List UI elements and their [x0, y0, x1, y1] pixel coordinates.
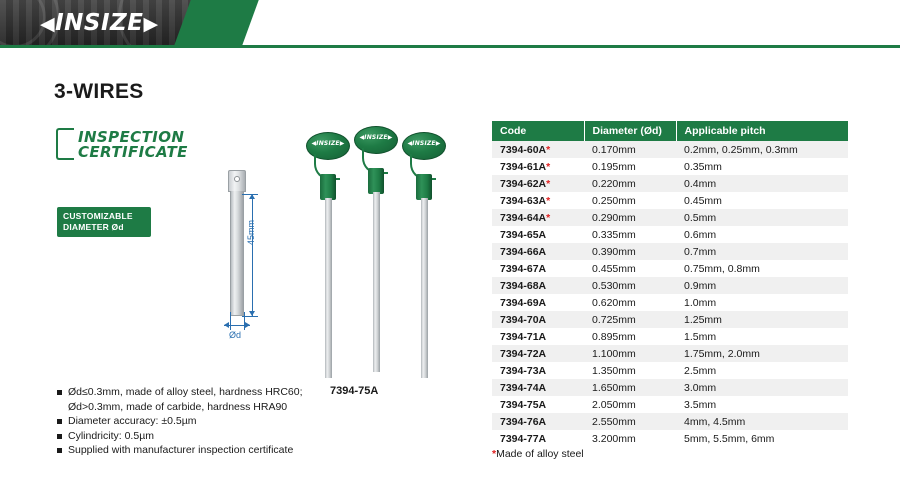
dimension-length-label: 45mm	[246, 220, 256, 245]
wire-disc-label: ◀INSIZE▶	[402, 140, 446, 147]
wire-clamp	[416, 174, 432, 200]
alloy-steel-star-icon: *	[546, 178, 550, 190]
alloy-steel-star-icon: *	[546, 161, 550, 173]
table-footnote: *Made of alloy steel	[492, 448, 584, 460]
cell-diameter: 2.050mm	[584, 396, 676, 413]
table-row: 7394-60A*0.170mm0.2mm, 0.25mm, 0.3mm	[492, 141, 848, 158]
bullet-square-icon	[57, 419, 62, 424]
cell-code: 7394-60A*	[492, 141, 584, 158]
list-item-label: Cylindricity: 0.5µm	[68, 430, 154, 442]
cell-applicable-pitch: 0.45mm	[676, 192, 848, 209]
dimension-diameter-label: Ød	[229, 330, 241, 340]
dimension-arrow-right-icon	[245, 322, 250, 328]
table-row: 7394-77A3.200mm5mm, 5.5mm, 6mm	[492, 430, 848, 447]
header-rule	[0, 45, 900, 48]
list-item: Ød≤0.3mm, made of alloy steel, hardness …	[57, 385, 303, 400]
inspection-certificate-badge: INSPECTION CERTIFICATE	[56, 128, 236, 170]
list-item: Cylindricity: 0.5µm	[57, 429, 303, 444]
cell-code: 7394-65A	[492, 226, 584, 243]
cell-diameter: 0.250mm	[584, 192, 676, 209]
list-item-continuation: Ød>0.3mm, made of carbide, hardness HRA9…	[57, 400, 303, 415]
alloy-steel-star-icon: *	[546, 144, 550, 156]
table-row: 7394-64A*0.290mm0.5mm	[492, 209, 848, 226]
table-row: 7394-65A0.335mm0.6mm	[492, 226, 848, 243]
cell-diameter: 0.895mm	[584, 328, 676, 345]
wire-rod	[373, 192, 380, 372]
bullet-square-icon	[57, 448, 62, 453]
wire-disc-label: ◀INSIZE▶	[354, 134, 398, 141]
cell-applicable-pitch: 0.35mm	[676, 158, 848, 175]
cell-code: 7394-73A	[492, 362, 584, 379]
cell-code: 7394-71A	[492, 328, 584, 345]
product-table: Code Diameter (Ød) Applicable pitch 7394…	[492, 121, 848, 447]
column-header-diameter: Diameter (Ød)	[584, 121, 676, 141]
wire-clamp	[320, 174, 336, 200]
bullet-square-icon	[57, 434, 62, 439]
cell-applicable-pitch: 0.9mm	[676, 277, 848, 294]
wire-disc-label: ◀INSIZE▶	[306, 140, 350, 147]
wire-head-hole	[234, 176, 240, 182]
wire-shaft	[230, 191, 244, 316]
table-row: 7394-76A2.550mm4mm, 4.5mm	[492, 413, 848, 430]
cell-applicable-pitch: 5mm, 5.5mm, 6mm	[676, 430, 848, 447]
list-item-label: Ød≤0.3mm, made of alloy steel, hardness …	[68, 386, 303, 398]
cell-applicable-pitch: 4mm, 4.5mm	[676, 413, 848, 430]
customizable-tag-line-1: CUSTOMIZABLE	[63, 211, 151, 222]
cell-diameter: 0.195mm	[584, 158, 676, 175]
table-row: 7394-71A0.895mm1.5mm	[492, 328, 848, 345]
cell-diameter: 0.530mm	[584, 277, 676, 294]
cell-diameter: 0.220mm	[584, 175, 676, 192]
customizable-tag-line-2: DIAMETER Ød	[63, 222, 151, 233]
cell-code: 7394-67A	[492, 260, 584, 277]
insize-logo: ◀INSIZE▶	[40, 10, 159, 36]
table-row: 7394-68A0.530mm0.9mm	[492, 277, 848, 294]
table-row: 7394-61A*0.195mm0.35mm	[492, 158, 848, 175]
customizable-diameter-tag: CUSTOMIZABLE DIAMETER Ød	[57, 207, 151, 237]
cell-applicable-pitch: 0.75mm, 0.8mm	[676, 260, 848, 277]
dimension-tick-left	[230, 312, 231, 330]
cell-diameter: 0.725mm	[584, 311, 676, 328]
wire-set-caption: 7394-75A	[330, 385, 378, 397]
table-header-row: Code Diameter (Ød) Applicable pitch	[492, 121, 848, 141]
cell-diameter: 0.455mm	[584, 260, 676, 277]
cell-applicable-pitch: 1.0mm	[676, 294, 848, 311]
table-row: 7394-70A0.725mm1.25mm	[492, 311, 848, 328]
cell-applicable-pitch: 3.5mm	[676, 396, 848, 413]
table-row: 7394-74A1.650mm3.0mm	[492, 379, 848, 396]
cell-diameter: 1.350mm	[584, 362, 676, 379]
cell-diameter: 0.335mm	[584, 226, 676, 243]
logo-arrow-right-icon: ▶	[143, 13, 158, 35]
table-row: 7394-73A1.350mm2.5mm	[492, 362, 848, 379]
cell-code: 7394-75A	[492, 396, 584, 413]
cell-code: 7394-62A*	[492, 175, 584, 192]
dimension-arrow-up-icon	[249, 194, 255, 199]
table-row: 7394-72A1.100mm1.75mm, 2.0mm	[492, 345, 848, 362]
table-row: 7394-69A0.620mm1.0mm	[492, 294, 848, 311]
cell-code: 7394-77A	[492, 430, 584, 447]
bullet-square-icon	[57, 390, 62, 395]
alloy-steel-star-icon: *	[546, 195, 550, 207]
cell-applicable-pitch: 0.2mm, 0.25mm, 0.3mm	[676, 141, 848, 158]
cell-diameter: 0.620mm	[584, 294, 676, 311]
cell-code: 7394-64A*	[492, 209, 584, 226]
page-title: 3-WIRES	[54, 80, 144, 104]
cell-code: 7394-69A	[492, 294, 584, 311]
column-header-code: Code	[492, 121, 584, 141]
list-item: Supplied with manufacturer inspection ce…	[57, 443, 303, 458]
footnote-text: Made of alloy steel	[496, 448, 584, 460]
certificate-line-2: CERTIFICATE	[78, 143, 188, 161]
dimension-arrow-down-icon	[249, 311, 255, 316]
cell-code: 7394-74A	[492, 379, 584, 396]
cell-code: 7394-61A*	[492, 158, 584, 175]
table-row: 7394-63A*0.250mm0.45mm	[492, 192, 848, 209]
cell-code: 7394-68A	[492, 277, 584, 294]
cell-applicable-pitch: 1.25mm	[676, 311, 848, 328]
cell-diameter: 0.390mm	[584, 243, 676, 260]
cell-diameter: 1.100mm	[584, 345, 676, 362]
logo-arrow-left-icon: ◀	[40, 13, 55, 35]
logo-text: INSIZE	[55, 10, 143, 36]
certificate-bracket-icon	[56, 128, 74, 160]
cell-applicable-pitch: 0.7mm	[676, 243, 848, 260]
dimension-length-line	[252, 194, 253, 316]
cell-applicable-pitch: 1.75mm, 2.0mm	[676, 345, 848, 362]
cell-applicable-pitch: 2.5mm	[676, 362, 848, 379]
cell-code: 7394-66A	[492, 243, 584, 260]
list-item: Diameter accuracy: ±0.5µm	[57, 414, 303, 429]
wire-clamp	[368, 168, 384, 194]
table-row: 7394-62A*0.220mm0.4mm	[492, 175, 848, 192]
cell-applicable-pitch: 3.0mm	[676, 379, 848, 396]
list-item-label: Diameter accuracy: ±0.5µm	[68, 415, 197, 427]
page-header: ◀INSIZE▶	[0, 0, 900, 48]
wire-rod	[325, 198, 332, 378]
cell-diameter: 3.200mm	[584, 430, 676, 447]
table-row: 7394-67A0.455mm0.75mm, 0.8mm	[492, 260, 848, 277]
table-row: 7394-66A0.390mm0.7mm	[492, 243, 848, 260]
specification-list: Ød≤0.3mm, made of alloy steel, hardness …	[57, 385, 303, 458]
cell-diameter: 0.170mm	[584, 141, 676, 158]
cell-code: 7394-72A	[492, 345, 584, 362]
cell-code: 7394-70A	[492, 311, 584, 328]
list-item-label: Supplied with manufacturer inspection ce…	[68, 444, 293, 456]
cell-diameter: 0.290mm	[584, 209, 676, 226]
alloy-steel-star-icon: *	[546, 212, 550, 224]
cell-applicable-pitch: 0.4mm	[676, 175, 848, 192]
cell-applicable-pitch: 0.5mm	[676, 209, 848, 226]
table-body: 7394-60A*0.170mm0.2mm, 0.25mm, 0.3mm7394…	[492, 141, 848, 447]
cell-applicable-pitch: 0.6mm	[676, 226, 848, 243]
table-row: 7394-75A2.050mm3.5mm	[492, 396, 848, 413]
three-wire-set-image: ◀INSIZE▶ ◀INSIZE▶ ◀INSIZE▶	[300, 120, 450, 370]
cell-applicable-pitch: 1.5mm	[676, 328, 848, 345]
cell-code: 7394-63A*	[492, 192, 584, 209]
cell-diameter: 2.550mm	[584, 413, 676, 430]
cell-code: 7394-76A	[492, 413, 584, 430]
dimension-arrow-left-icon	[224, 322, 229, 328]
cell-diameter: 1.650mm	[584, 379, 676, 396]
wire-rod	[421, 198, 428, 378]
column-header-applicable-pitch: Applicable pitch	[676, 121, 848, 141]
